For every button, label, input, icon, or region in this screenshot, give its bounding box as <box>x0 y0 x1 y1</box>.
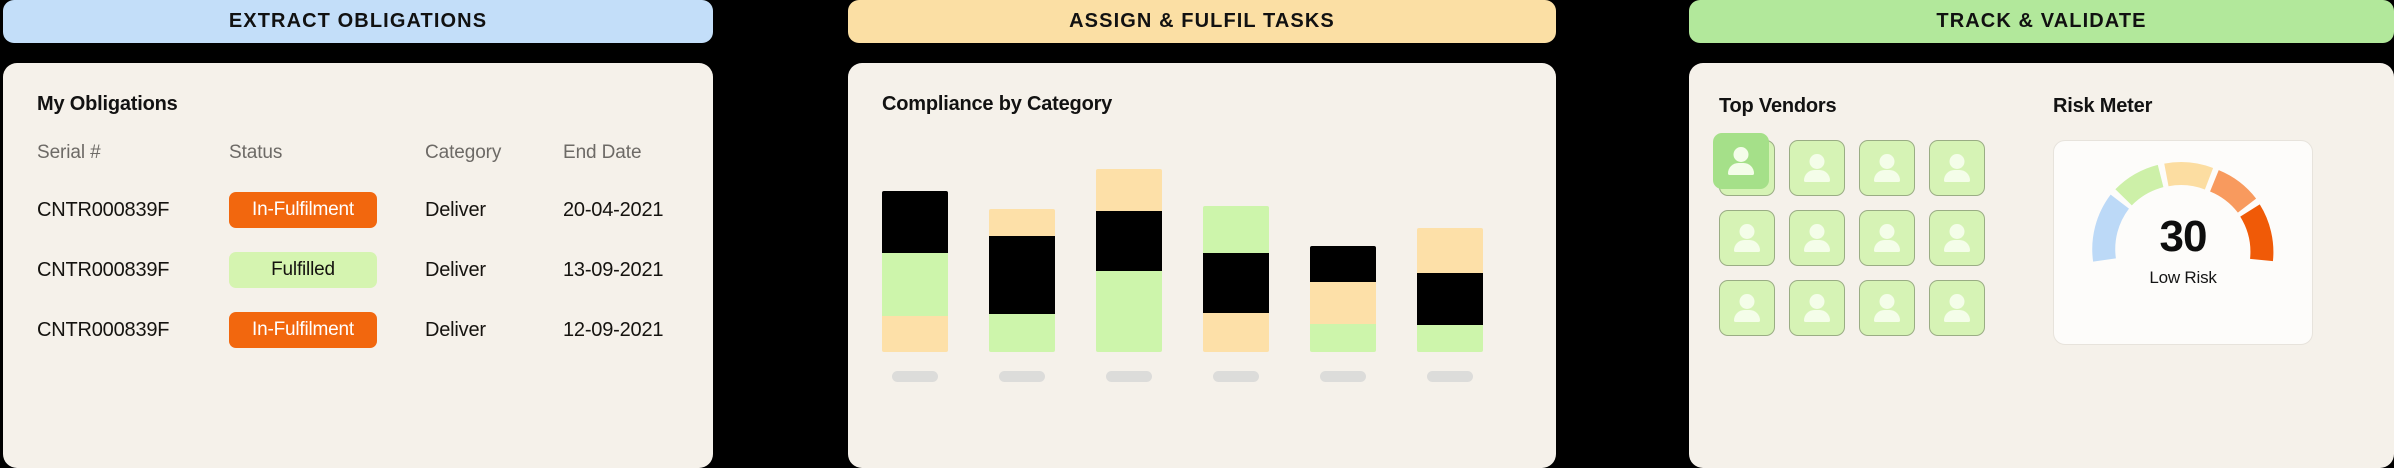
cell-end-date: 12-09-2021 <box>563 312 679 372</box>
vendor-tile[interactable] <box>1789 140 1845 196</box>
person-icon <box>1802 224 1832 252</box>
cell-end-date: 13-09-2021 <box>563 252 679 312</box>
vendor-tile[interactable] <box>1789 210 1845 266</box>
status-badge: In-Fulfilment <box>229 312 377 348</box>
person-icon <box>1872 294 1902 322</box>
risk-readout: 30 Low Risk <box>2054 215 2312 288</box>
obligations-table-head: Serial # Status Category End Date <box>37 142 679 192</box>
status-badge: Fulfilled <box>229 252 377 288</box>
stage-assign-fulfil-tasks: ASSIGN & FULFIL TASKS Compliance by Cate… <box>848 0 1556 468</box>
risk-meter-card: 30 Low Risk <box>2053 140 2313 345</box>
bar-segment-tan <box>1096 169 1162 211</box>
bar-stack <box>989 209 1055 352</box>
dashboard-stages: EXTRACT OBLIGATIONS My Obligations Seria… <box>0 0 2394 468</box>
column-header-status[interactable]: Status <box>229 142 425 192</box>
bar-segment-tan <box>1203 313 1269 352</box>
cell-status: In-Fulfilment <box>229 192 425 252</box>
column-header-end-date[interactable]: End Date <box>563 142 679 192</box>
obligations-card: My Obligations Serial # Status Category … <box>3 63 713 468</box>
bar-category-label-placeholder <box>1106 371 1152 382</box>
bar-stack <box>1096 169 1162 352</box>
person-icon <box>1726 147 1756 175</box>
vendor-tile[interactable] <box>1719 140 1775 196</box>
bar-segment-green <box>1310 324 1376 352</box>
vendor-tile[interactable] <box>1929 210 1985 266</box>
bar-column[interactable] <box>1310 246 1376 382</box>
person-icon <box>1802 294 1832 322</box>
person-icon <box>1942 224 1972 252</box>
cell-serial: CNTR000839F <box>37 192 229 252</box>
cell-status: In-Fulfilment <box>229 312 425 372</box>
person-icon <box>1802 154 1832 182</box>
bar-category-label-placeholder <box>1213 371 1259 382</box>
bar-segment-green <box>1203 206 1269 253</box>
bar-stack <box>1417 228 1483 352</box>
cell-status: Fulfilled <box>229 252 425 312</box>
cell-serial: CNTR000839F <box>37 312 229 372</box>
vendor-tile-featured[interactable] <box>1713 133 1769 189</box>
top-vendors-section: Top Vendors <box>1719 95 2019 345</box>
bar-category-label-placeholder <box>1427 371 1473 382</box>
risk-meter-section: Risk Meter <box>2053 95 2323 345</box>
person-icon <box>1872 154 1902 182</box>
person-icon <box>1942 294 1972 322</box>
cell-end-date: 20-04-2021 <box>563 192 679 252</box>
column-header-serial[interactable]: Serial # <box>37 142 229 192</box>
vendor-tile[interactable] <box>1859 280 1915 336</box>
bar-category-label-placeholder <box>892 371 938 382</box>
bar-segment-tan <box>882 316 948 352</box>
stage-track-validate: TRACK & VALIDATE Top Vendors Risk Meter <box>1689 0 2394 468</box>
bar-category-label-placeholder <box>999 371 1045 382</box>
stage-extract-obligations: EXTRACT OBLIGATIONS My Obligations Seria… <box>3 0 713 468</box>
cell-category: Deliver <box>425 252 563 312</box>
vendor-tile[interactable] <box>1719 210 1775 266</box>
top-vendors-title: Top Vendors <box>1719 95 2019 118</box>
person-icon <box>1872 224 1902 252</box>
bar-segment-green <box>1417 325 1483 352</box>
bar-column[interactable] <box>882 191 948 382</box>
compliance-stacked-bar-chart <box>882 132 1522 382</box>
risk-score-label: Low Risk <box>2054 268 2312 288</box>
bar-segment-green <box>989 314 1055 352</box>
bar-segment-tan <box>989 209 1055 236</box>
bar-segment-dark <box>989 236 1055 314</box>
table-row[interactable]: CNTR000839F Fulfilled Deliver 13-09-2021 <box>37 252 679 312</box>
obligations-table-body: CNTR000839F In-Fulfilment Deliver 20-04-… <box>37 192 679 372</box>
status-badge: In-Fulfilment <box>229 192 377 228</box>
stage-header-extract-obligations[interactable]: EXTRACT OBLIGATIONS <box>3 0 713 43</box>
compliance-chart-title: Compliance by Category <box>882 93 1556 116</box>
bar-segment-dark <box>882 191 948 253</box>
bar-segment-tan <box>1417 228 1483 273</box>
table-header-row: Serial # Status Category End Date <box>37 142 679 192</box>
vendor-tile[interactable] <box>1789 280 1845 336</box>
vendor-grid <box>1719 140 2019 336</box>
bar-segment-dark <box>1310 246 1376 282</box>
stage-header-track-validate[interactable]: TRACK & VALIDATE <box>1689 0 2394 43</box>
person-icon <box>1732 224 1762 252</box>
track-card: Top Vendors Risk Meter <box>1689 63 2394 468</box>
stage-header-assign-fulfil-tasks[interactable]: ASSIGN & FULFIL TASKS <box>848 0 1556 43</box>
risk-meter-title: Risk Meter <box>2053 95 2323 118</box>
vendor-tile[interactable] <box>1929 140 1985 196</box>
obligations-card-body: My Obligations Serial # Status Category … <box>3 63 713 372</box>
risk-score-value: 30 <box>2054 215 2312 259</box>
compliance-card-body: Compliance by Category <box>848 63 1556 382</box>
cell-serial: CNTR000839F <box>37 252 229 312</box>
compliance-card: Compliance by Category <box>848 63 1556 468</box>
track-card-body: Top Vendors Risk Meter <box>1689 63 2394 345</box>
my-obligations-title: My Obligations <box>37 93 679 116</box>
person-icon <box>1732 294 1762 322</box>
bar-column[interactable] <box>1096 169 1162 382</box>
table-row[interactable]: CNTR000839F In-Fulfilment Deliver 12-09-… <box>37 312 679 372</box>
bar-column[interactable] <box>989 209 1055 382</box>
table-row[interactable]: CNTR000839F In-Fulfilment Deliver 20-04-… <box>37 192 679 252</box>
bar-segment-green <box>882 253 948 316</box>
vendor-tile[interactable] <box>1929 280 1985 336</box>
bar-segment-dark <box>1203 253 1269 313</box>
obligations-table: Serial # Status Category End Date CNTR00… <box>37 142 679 372</box>
vendor-tile[interactable] <box>1859 210 1915 266</box>
cell-category: Deliver <box>425 192 563 252</box>
bar-column[interactable] <box>1203 206 1269 382</box>
column-header-category[interactable]: Category <box>425 142 563 192</box>
bar-segment-dark <box>1096 211 1162 271</box>
person-icon <box>1942 154 1972 182</box>
bar-column[interactable] <box>1417 228 1483 382</box>
cell-category: Deliver <box>425 312 563 372</box>
bar-stack <box>882 191 948 352</box>
bar-stack <box>1203 206 1269 352</box>
bar-category-label-placeholder <box>1320 371 1366 382</box>
bar-segment-dark <box>1417 273 1483 325</box>
bar-stack <box>1310 246 1376 352</box>
vendor-tile[interactable] <box>1719 280 1775 336</box>
vendor-tile[interactable] <box>1859 140 1915 196</box>
bar-segment-green <box>1096 271 1162 352</box>
bar-segment-tan <box>1310 282 1376 324</box>
